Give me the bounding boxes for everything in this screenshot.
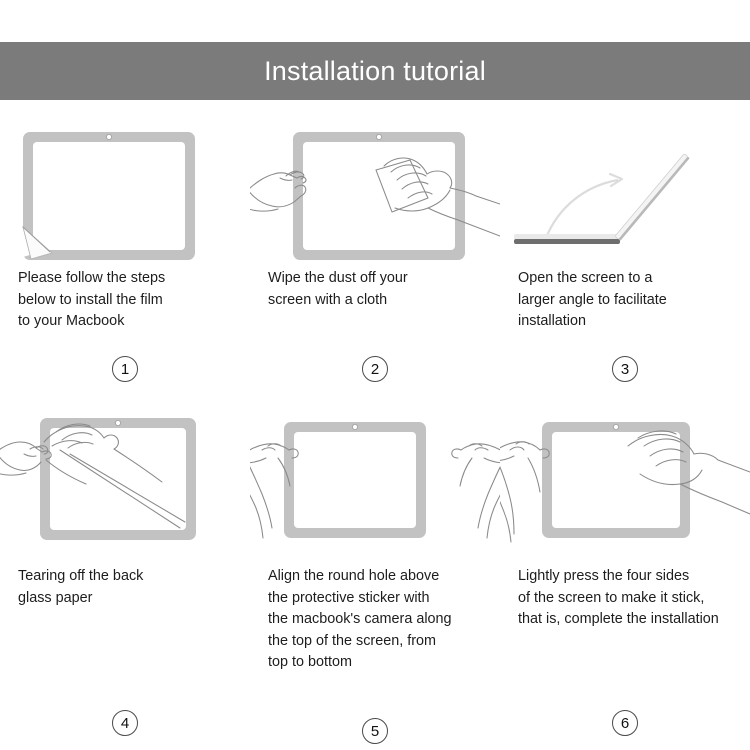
step-5-illustration [250,410,500,558]
step-1-caption: Please follow the steps below to install… [18,268,250,333]
caption-line: Lightly press the four sides [518,566,750,588]
step-number-badge: 4 [112,710,138,736]
caption-line: below to install the film [18,290,250,312]
step-number-badge: 1 [112,356,138,382]
step-4-illustration [0,410,250,558]
step-3-illustration [500,112,750,260]
caption-line: glass paper [18,588,250,610]
step-2-illustration [250,112,500,260]
step-number-badge: 5 [362,718,388,744]
caption-line: Tearing off the back [18,566,250,588]
caption-line: installation [518,311,750,333]
step-3-number: 3 [500,356,750,382]
installation-tutorial-page: Installation tutorial Please foll [0,0,750,750]
caption-line: the protective sticker with [268,588,508,610]
caption-line: to your Macbook [18,311,250,333]
caption-line: the top of the screen, from [268,631,508,653]
page-title: Installation tutorial [264,58,486,85]
step-4: Tearing off the back glass paper 4 [0,410,250,708]
steps-grid: Please follow the steps below to install… [0,112,750,708]
caption-line: that is, complete the installation [518,609,750,631]
step-number-badge: 6 [612,710,638,736]
caption-line: Wipe the dust off your [268,268,500,290]
step-4-number: 4 [0,710,250,736]
header-bar: Installation tutorial [0,42,750,100]
step-5-number: 5 [250,718,500,744]
caption-line: the macbook's camera along [268,609,508,631]
step-6: Lightly press the four sides of the scre… [500,410,750,708]
caption-line: Please follow the steps [18,268,250,290]
step-1-illustration [0,112,250,260]
step-5-caption: Align the round hole above the protectiv… [268,566,508,674]
step-6-caption: Lightly press the four sides of the scre… [518,566,750,631]
step-2: Wipe the dust off your screen with a clo… [250,112,500,410]
step-number-badge: 3 [612,356,638,382]
step-2-number: 2 [250,356,500,382]
step-6-illustration [500,410,750,558]
step-4-caption: Tearing off the back glass paper [18,566,250,609]
caption-line: top to bottom [268,652,508,674]
caption-line: of the screen to make it stick, [518,588,750,610]
step-3: Open the screen to a larger angle to fac… [500,112,750,410]
step-number-badge: 2 [362,356,388,382]
caption-line: screen with a cloth [268,290,500,312]
step-1-number: 1 [0,356,250,382]
step-3-caption: Open the screen to a larger angle to fac… [518,268,750,333]
step-6-number: 6 [500,710,750,736]
caption-line: Open the screen to a [518,268,750,290]
caption-line: larger angle to facilitate [518,290,750,312]
step-2-caption: Wipe the dust off your screen with a clo… [268,268,500,311]
step-1: Please follow the steps below to install… [0,112,250,410]
step-5: Align the round hole above the protectiv… [250,410,500,708]
caption-line: Align the round hole above [268,566,508,588]
